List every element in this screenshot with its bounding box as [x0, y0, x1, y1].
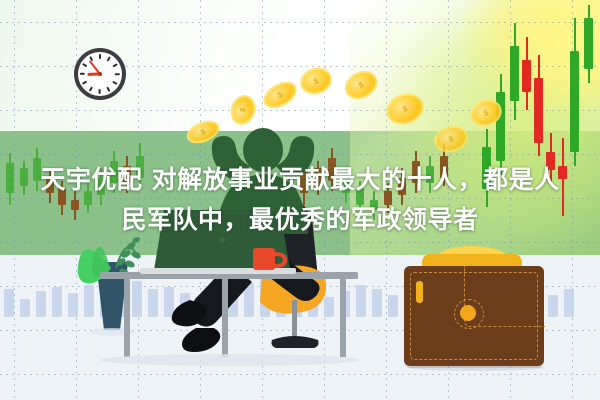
coin-currency-symbol: $: [391, 100, 418, 117]
bar-chart-bar: [4, 289, 14, 317]
coin-inner-ring: $: [303, 69, 329, 93]
bar-chart-bar: [388, 295, 398, 317]
bar-chart-bar: [372, 289, 382, 317]
coin-currency-symbol: $: [304, 73, 327, 88]
bar-chart-bar: [52, 287, 62, 317]
bar-chart-bar: [548, 295, 558, 317]
bar-chart-bar: [276, 289, 286, 317]
bar-chart-bar: [196, 297, 206, 317]
bar-chart-bar: [100, 295, 110, 317]
bar-chart-bar: [308, 287, 318, 317]
bar-chart-bar: [20, 299, 30, 317]
bar-chart-bar: [116, 291, 126, 317]
gold-coin: $: [183, 116, 222, 147]
gold-coin: $: [467, 95, 506, 130]
bar-chart-bar: [292, 293, 302, 317]
wallet-button: [460, 305, 476, 321]
bar-chart-bar: [340, 291, 350, 317]
gold-coin: $: [259, 76, 301, 113]
coin-currency-symbol: $: [267, 85, 293, 105]
coin-currency-symbol: $: [236, 99, 251, 121]
coin-inner-ring: $: [232, 98, 254, 122]
coin-currency-symbol: $: [349, 76, 374, 95]
coin-currency-symbol: $: [439, 132, 464, 147]
bar-chart-bar: [68, 293, 78, 317]
bar-chart-bar: [324, 297, 334, 317]
coin-currency-symbol: $: [191, 123, 216, 140]
coin-currency-symbol: $: [474, 105, 498, 121]
gold-coin: $: [382, 88, 428, 129]
banner-image: $$$$$$$$: [0, 0, 600, 400]
bar-chart-bar: [84, 285, 94, 317]
coin-inner-ring: $: [438, 127, 465, 150]
bar-chart-bar: [244, 283, 254, 317]
coin-inner-ring: $: [190, 121, 217, 142]
bar-chart-bar: [148, 289, 158, 317]
coin-inner-ring: $: [347, 72, 376, 98]
bar-chart-bar: [180, 293, 190, 317]
coin-inner-ring: $: [266, 82, 295, 107]
headline-line-2: 民军队中，最优秀的军政领导者: [0, 200, 600, 240]
headline-line-1: 天宇优配 对解放事业贡献最大的十人，都是人: [0, 160, 600, 200]
bar-chart-bar: [564, 289, 574, 317]
coin-inner-ring: $: [473, 101, 500, 125]
bar-chart-bar: [228, 291, 238, 317]
bar-chart-bar: [132, 281, 142, 317]
leather-wallet: [404, 266, 544, 366]
gold-coin: $: [227, 92, 259, 128]
gold-coin: $: [297, 64, 335, 99]
gold-coin: $: [340, 66, 382, 105]
gold-coin: $: [431, 122, 471, 156]
bar-chart-bar: [212, 287, 222, 317]
bar-chart-bar: [356, 285, 366, 317]
wallet-card-edge: [416, 281, 423, 303]
headline-text: 天宇优配 对解放事业贡献最大的十人，都是人 民军队中，最优秀的军政领导者: [0, 160, 600, 240]
bar-chart-bar: [260, 273, 270, 317]
coin-inner-ring: $: [389, 95, 420, 123]
bar-chart-bar: [164, 287, 174, 317]
bar-chart-bar: [36, 291, 46, 317]
